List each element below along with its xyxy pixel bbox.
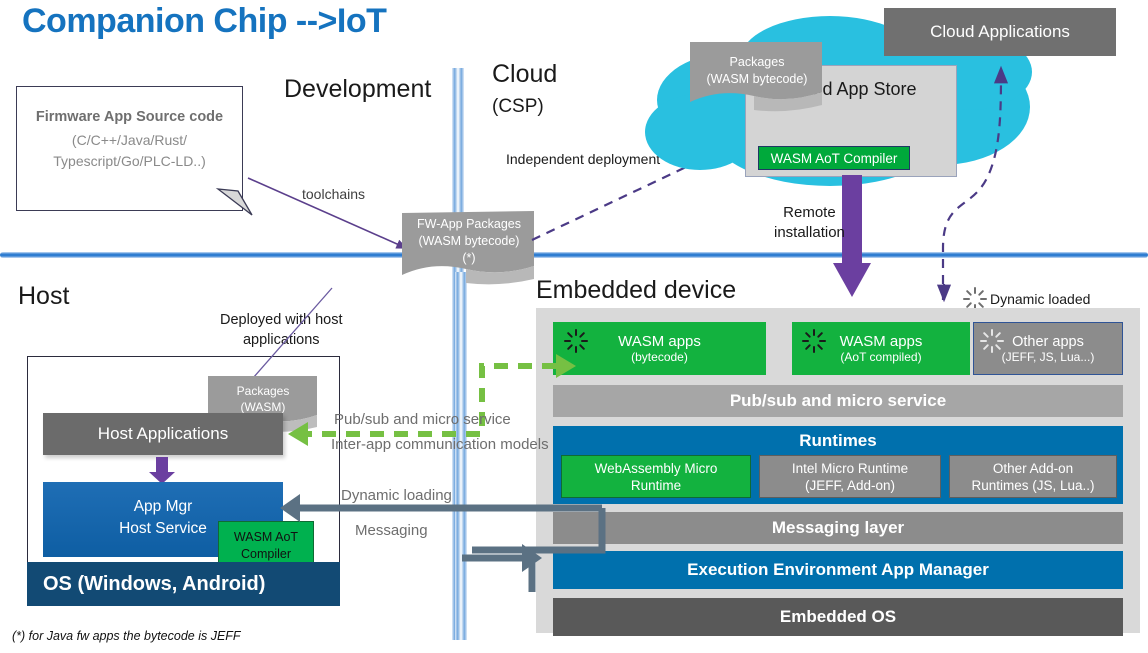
runtime-intel-micro[interactable]: Intel Micro Runtime(JEFF, Add-on) bbox=[759, 455, 941, 498]
toolchains-arrow bbox=[246, 170, 426, 260]
cloud-packages-label: Packages (WASM bytecode) bbox=[688, 54, 826, 88]
runtime-webassembly-micro[interactable]: WebAssembly MicroRuntime bbox=[561, 455, 751, 498]
messaging-layer-bar[interactable]: Messaging layer bbox=[553, 512, 1123, 544]
runtime-other-addon[interactable]: Other Add-onRuntimes (JS, Lua..) bbox=[949, 455, 1117, 498]
region-label-development: Development bbox=[284, 75, 431, 104]
embedded-os-bar[interactable]: Embedded OS bbox=[553, 598, 1123, 636]
runtime-2-l2: Runtimes (JS, Lua..) bbox=[971, 478, 1094, 493]
embedded-device-panel: WASM apps (bytecode) WASM apps (AoT comp… bbox=[536, 308, 1140, 633]
embedded-app-1-title: WASM apps bbox=[840, 333, 923, 350]
annotation-messaging: Messaging bbox=[355, 522, 428, 539]
source-code-line-1: (C/C++/Java/Rust/ bbox=[17, 130, 242, 151]
execution-environment-app-manager-bar[interactable]: Execution Environment App Manager bbox=[553, 551, 1123, 589]
embedded-app-2-sub: (JEFF, JS, Lua...) bbox=[1002, 350, 1095, 364]
host-internal-arrow bbox=[148, 457, 176, 485]
region-label-cloud-sub: (CSP) bbox=[492, 96, 544, 118]
embedded-app-2-title: Other apps bbox=[1012, 334, 1084, 350]
runtime-0-l1: WebAssembly Micro bbox=[595, 461, 718, 476]
fw-pkg-line-3: (*) bbox=[400, 250, 538, 267]
embedded-app-0-sub: (bytecode) bbox=[631, 350, 688, 364]
dynamic-loaded-arrow-stub bbox=[938, 284, 952, 308]
cloud-applications-box[interactable]: Cloud Applications bbox=[884, 8, 1116, 56]
pubsub-micro-service-bar[interactable]: Pub/sub and micro service bbox=[553, 385, 1123, 417]
runtime-0-l2: Runtime bbox=[631, 478, 681, 493]
spinner-icon-app-2 bbox=[979, 328, 1005, 354]
embedded-app-0-title: WASM apps bbox=[618, 333, 701, 350]
annotation-toolchains: toolchains bbox=[302, 186, 365, 202]
steel-arrow-head-right bbox=[460, 540, 550, 576]
dynamic-loaded-dashed-path bbox=[925, 50, 1035, 302]
runtimes-title: Runtimes bbox=[553, 426, 1123, 451]
runtimes-container: Runtimes WebAssembly MicroRuntime Intel … bbox=[553, 426, 1123, 504]
remote-install-line-1: Remote bbox=[774, 203, 845, 223]
annotation-independent-deployment: Independent deployment bbox=[506, 151, 660, 167]
runtime-1-l1: Intel Micro Runtime bbox=[792, 461, 908, 476]
region-label-cloud: Cloud bbox=[492, 60, 557, 89]
embedded-app-1-sub: (AoT compiled) bbox=[840, 350, 921, 364]
firmware-source-code-callout: Firmware App Source code (C/C++/Java/Rus… bbox=[16, 86, 243, 211]
runtime-2-l1: Other Add-on bbox=[993, 461, 1073, 476]
remote-install-line-2: installation bbox=[774, 223, 845, 243]
page-title: Companion Chip -->IoT bbox=[22, 2, 386, 41]
annotation-pubsub-micro-service: Pub/sub and micro service bbox=[334, 411, 511, 428]
source-code-line-2: Typescript/Go/PLC-LD..) bbox=[17, 151, 242, 172]
annotation-dynamic-loading: Dynamic loading bbox=[341, 487, 452, 504]
footnote: (*) for Java fw apps the bytecode is JEF… bbox=[12, 629, 241, 643]
fw-pkg-line-1: FW-App Packages bbox=[400, 216, 538, 233]
wasm-aot-compiler-cloud[interactable]: WASM AoT Compiler bbox=[758, 146, 910, 170]
fw-pkg-line-2: (WASM bytecode) bbox=[400, 233, 538, 250]
host-applications-box[interactable]: Host Applications bbox=[43, 413, 283, 455]
annotation-remote-installation: Remote installation bbox=[774, 203, 845, 243]
region-label-embedded-device: Embedded device bbox=[536, 276, 736, 305]
annotation-dynamic-loaded: Dynamic loaded bbox=[990, 291, 1090, 307]
app-mgr-line-1: App Mgr bbox=[43, 496, 283, 518]
source-code-heading: Firmware App Source code bbox=[17, 109, 242, 125]
annotation-interapp-communication: Inter-app communication models bbox=[331, 436, 549, 453]
cloud-pkg-line-1: Packages bbox=[688, 54, 826, 71]
fw-app-packages-label: FW-App Packages (WASM bytecode) (*) bbox=[400, 216, 538, 267]
region-label-host: Host bbox=[18, 282, 69, 311]
spinner-icon-app-1 bbox=[801, 328, 827, 354]
cloud-pkg-line-2: (WASM bytecode) bbox=[688, 71, 826, 88]
runtime-1-l2: (JEFF, Add-on) bbox=[805, 478, 895, 493]
